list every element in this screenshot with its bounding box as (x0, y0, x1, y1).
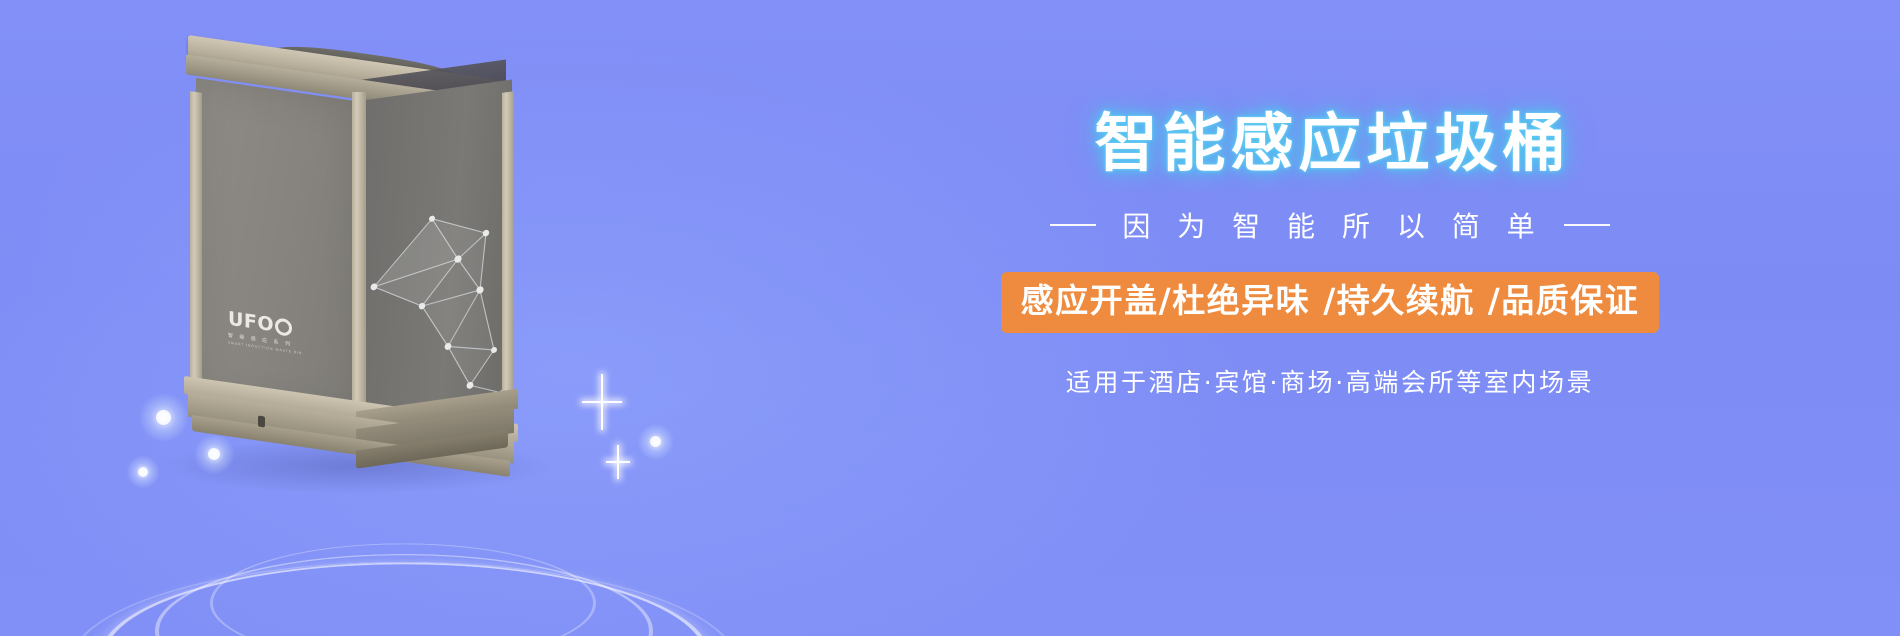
tagline-text: 因 为 智 能 所 以 简 单 (1116, 205, 1543, 245)
glow-particle-4 (650, 436, 661, 447)
glow-particle-2 (138, 467, 148, 477)
glow-particle-1 (156, 410, 171, 425)
tagline-rule-right (1564, 224, 1610, 226)
bin-corner-pillar-center (352, 92, 366, 424)
page-title: 智能感应垃圾桶 (880, 112, 1780, 175)
product-stage: UFO 智 能 感 应 系 列 SMART INDUCTION WASTE BI… (60, 30, 820, 610)
feature-badge-text: 感应开盖/杜绝异味 /持久续航 /品质保证 (1021, 281, 1640, 320)
tagline-rule-left (1050, 224, 1096, 226)
scene-description: 适用于酒店·宾馆·商场·高端会所等室内场景 (880, 363, 1780, 399)
promo-banner: UFO 智 能 感 应 系 列 SMART INDUCTION WASTE BI… (0, 0, 1900, 636)
bin-corner-pillar-left (190, 91, 202, 411)
bin-body-left-face (196, 78, 362, 420)
trash-bin-product: UFO 智 能 感 应 系 列 SMART INDUCTION WASTE BI… (180, 48, 600, 468)
tagline-row: 因 为 智 能 所 以 简 单 (880, 205, 1780, 245)
banner-copy: 智能感应垃圾桶 因 为 智 能 所 以 简 单 感应开盖/杜绝异味 /持久续航 … (880, 112, 1780, 399)
brand-logo-text: UFO (228, 310, 274, 336)
brand-logo-ring-icon (275, 317, 292, 336)
bin-base-latch (258, 415, 265, 427)
bin-body-right-face (362, 79, 512, 418)
polygon-network-graphic (362, 79, 512, 418)
feature-badge: 感应开盖/杜绝异味 /持久续航 /品质保证 (1001, 272, 1660, 333)
bin-corner-pillar-right (502, 91, 514, 399)
